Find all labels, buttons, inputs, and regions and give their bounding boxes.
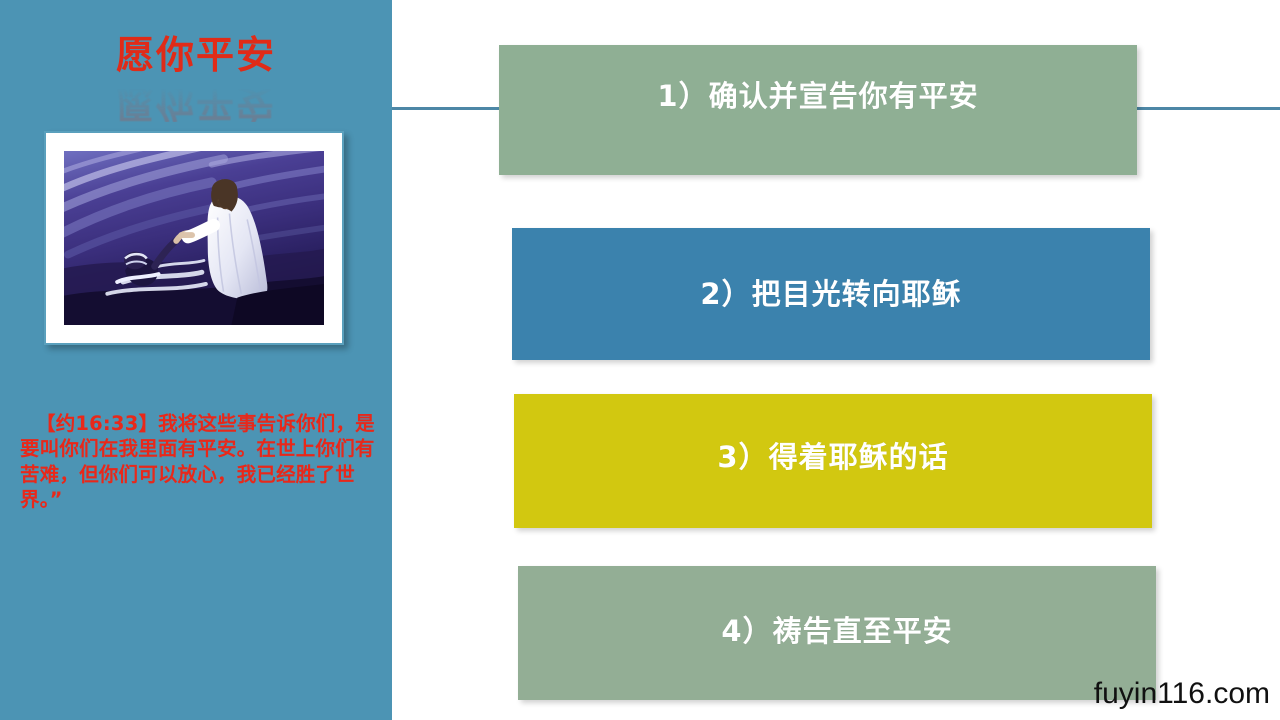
point-box-2-label: 2）把目光转向耶稣: [700, 271, 961, 313]
point-box-3-label: 3）得着耶稣的话: [717, 434, 948, 476]
point-box-4-label: 4）祷告直至平安: [721, 608, 952, 650]
point-box-1[interactable]: 1）确认并宣告你有平安: [499, 45, 1137, 175]
scripture-text: 【约16:33】我将这些事告诉你们，是要叫你们在我里面有平安。在世上你们有苦难，…: [20, 411, 376, 512]
jesus-water-illustration: [64, 151, 324, 325]
jesus-walking-on-water-image: [64, 151, 324, 325]
slide-title: 愿你平安: [0, 36, 392, 74]
point-box-2[interactable]: 2）把目光转向耶稣: [512, 228, 1150, 360]
point-box-1-label: 1）确认并宣告你有平安: [657, 73, 978, 115]
sidebar-panel: 愿你平安 愿你平安: [0, 0, 392, 720]
slide-title-reflection: 愿你平安: [0, 84, 392, 122]
site-watermark: fuyin116.com: [1094, 677, 1270, 711]
slide-canvas: 愿你平安 愿你平安: [0, 0, 1280, 720]
point-box-4[interactable]: 4）祷告直至平安: [518, 566, 1156, 700]
point-box-3[interactable]: 3）得着耶稣的话: [514, 394, 1152, 528]
picture-frame: [44, 131, 344, 345]
